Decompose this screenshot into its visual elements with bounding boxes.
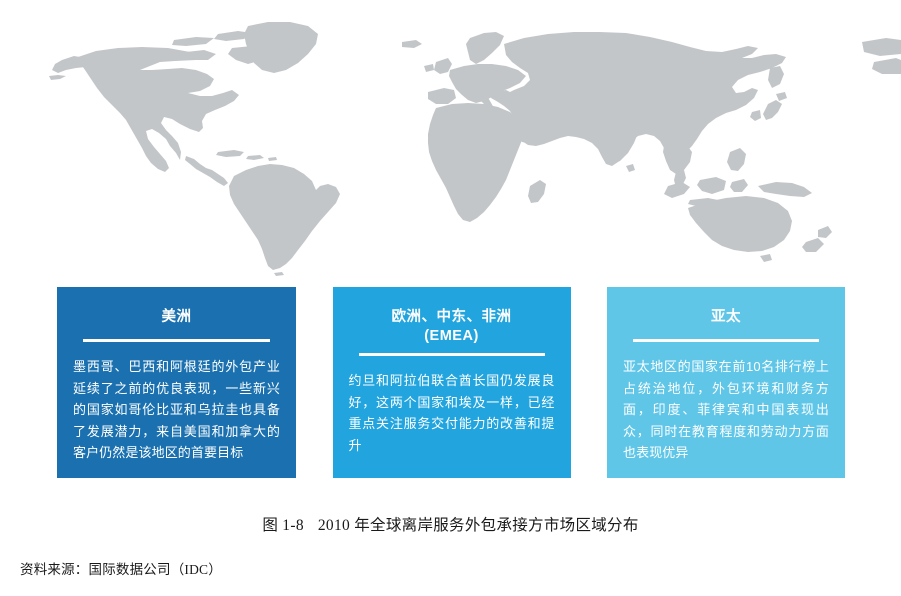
australia-shape xyxy=(688,196,792,252)
region-card-body: 约旦和阿拉伯联合酋长国仍发展良好，这两个国家和埃及一样，已经重点关注服务交付能力… xyxy=(349,370,555,456)
british-isles-shape xyxy=(434,58,452,74)
south-america-shape xyxy=(229,164,340,270)
region-cards-row: 美洲 墨西哥、巴西和阿根廷的外包产业延续了之前的优良表现，一些新兴的国家如哥伦比… xyxy=(57,287,845,478)
figure-caption: 图 1-82010 年全球离岸服务外包承接方市场区域分布 xyxy=(0,513,901,535)
region-card-emea[interactable]: 欧洲、中东、非洲 (EMEA) 约旦和阿拉伯联合酋长国仍发展良好，这两个国家和埃… xyxy=(333,287,571,478)
world-map-svg xyxy=(0,0,901,285)
iberia-shape xyxy=(428,88,456,104)
map-east-edge-shape xyxy=(862,38,901,56)
philippines-shape xyxy=(727,148,746,171)
madagascar-shape xyxy=(528,180,546,203)
sulawesi-shape xyxy=(730,179,748,192)
puerto-rico-shape xyxy=(268,157,277,161)
region-card-divider xyxy=(359,353,545,356)
region-card-body: 墨西哥、巴西和阿根廷的外包产业延续了之前的优良表现，一些新兴的国家如哥伦比亚和乌… xyxy=(73,356,280,464)
new-zealand-shape xyxy=(818,226,832,238)
region-card-title: 欧洲、中东、非洲 (EMEA) xyxy=(349,308,555,346)
scandinavia-shape xyxy=(466,32,504,64)
hispaniola-shape xyxy=(246,155,264,160)
japan-shape xyxy=(763,100,782,120)
north-america-shape xyxy=(78,47,239,172)
map-east-edge-2-shape xyxy=(872,58,901,74)
region-card-divider xyxy=(633,339,819,342)
ireland-shape xyxy=(424,64,434,72)
world-map-figure xyxy=(0,0,901,285)
region-card-body: 亚太地区的国家在前10名排行榜上占统治地位，外包环境和财务方面，印度、菲律宾和中… xyxy=(623,356,829,464)
hokkaido-shape xyxy=(776,92,787,101)
kamchatka-shape xyxy=(768,66,784,88)
iceland-shape xyxy=(402,40,422,48)
korea-shape xyxy=(750,110,761,121)
southeast-asia-shape xyxy=(663,142,692,174)
central-america-shape xyxy=(185,156,228,186)
aleutian-islands-shape xyxy=(49,75,66,80)
africa-shape xyxy=(428,103,522,222)
eurasia-shape xyxy=(498,32,786,166)
sumatra-shape xyxy=(664,182,690,198)
source-note: 资料来源：国际数据公司（IDC） xyxy=(20,558,222,578)
figure-caption-text: 2010 年全球离岸服务外包承接方市场区域分布 xyxy=(318,517,639,534)
tasmania-shape xyxy=(760,254,772,262)
region-card-apac[interactable]: 亚太 亚太地区的国家在前10名排行榜上占统治地位，外包环境和财务方面，印度、菲律… xyxy=(607,287,845,478)
figure-caption-number: 图 1-8 xyxy=(262,517,304,534)
new-guinea-shape xyxy=(758,182,812,197)
arctic-islands-shape xyxy=(172,37,214,46)
borneo-shape xyxy=(697,177,726,194)
new-zealand-south-shape xyxy=(802,238,824,252)
region-card-americas[interactable]: 美洲 墨西哥、巴西和阿根廷的外包产业延续了之前的优良表现，一些新兴的国家如哥伦比… xyxy=(57,287,296,478)
cuba-shape xyxy=(216,150,244,157)
region-card-title: 美洲 xyxy=(73,308,280,327)
tierra-del-fuego-shape xyxy=(274,272,284,276)
region-card-title: 亚太 xyxy=(623,308,829,327)
sri-lanka-shape xyxy=(626,164,635,172)
region-card-divider xyxy=(83,339,270,342)
world-map-landmasses xyxy=(49,22,901,276)
